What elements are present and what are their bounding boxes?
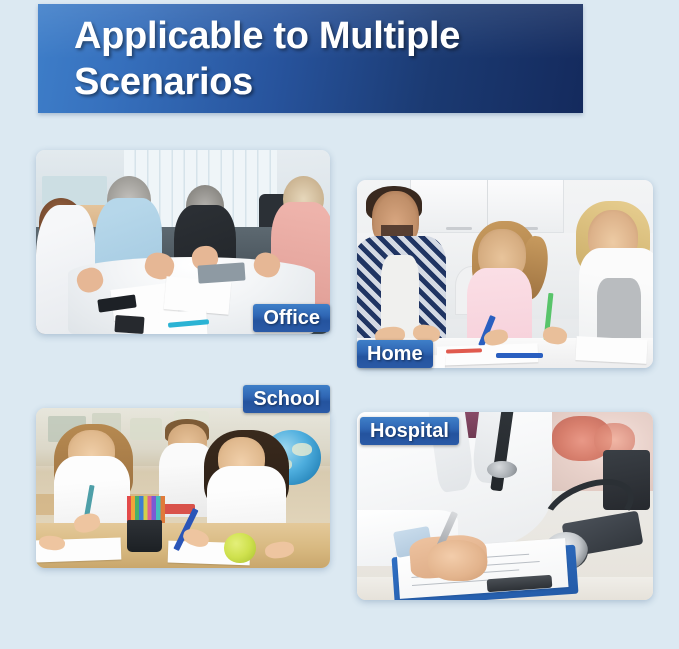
hospital-doctor-hand xyxy=(428,540,487,581)
page-title: Applicable to Multiple Scenarios xyxy=(74,13,574,105)
hospital-stethoscope-head xyxy=(487,461,517,478)
office-phone xyxy=(115,315,145,334)
office-tablet xyxy=(197,262,245,284)
scenario-card-office[interactable]: Office xyxy=(36,150,330,334)
school-globe-landmass xyxy=(292,443,313,456)
header-banner: Applicable to Multiple Scenarios xyxy=(38,4,583,113)
school-photo xyxy=(36,408,330,568)
card-label-home: Home xyxy=(357,340,433,368)
home-cabinet-handle xyxy=(446,227,473,230)
card-label-hospital: Hospital xyxy=(360,417,459,445)
scenario-card-hospital[interactable]: Hospital xyxy=(357,412,653,600)
card-label-school: School xyxy=(243,385,330,413)
scenario-card-home[interactable]: Home xyxy=(357,180,653,368)
card-label-office: Office xyxy=(253,304,330,332)
home-blue-pencil xyxy=(496,353,543,358)
scenario-card-school[interactable]: School xyxy=(36,408,330,568)
home-notebook xyxy=(575,336,647,364)
school-shelf-item xyxy=(130,418,162,440)
school-pencil-cup xyxy=(127,520,162,552)
